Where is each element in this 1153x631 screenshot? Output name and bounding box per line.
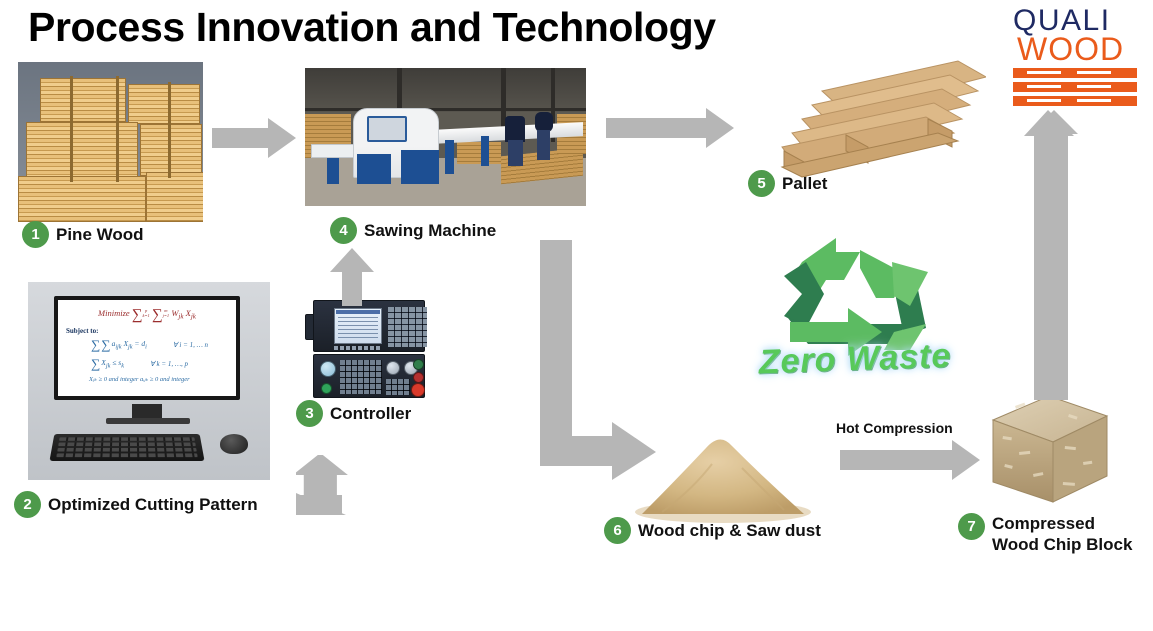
compressed-block-photo	[985, 390, 1111, 508]
sawdust-pile-photo	[632, 428, 814, 524]
slide-canvas: Process Innovation and Technology QUALI …	[0, 0, 1153, 631]
formula-subject-to: Subject to:	[66, 327, 231, 335]
arrow-pinewood-to-saw	[212, 118, 296, 163]
step-6-badge: 6	[604, 517, 631, 544]
step-3: 3 Controller	[296, 400, 411, 427]
optimization-model-screen: Minimize ∑pk=1 ∑mj=1 Wjk Xjk Subject to:…	[54, 296, 240, 400]
step-2-label: Optimized Cutting Pattern	[48, 494, 258, 515]
formula-objective-terms: Wjk Xjk	[171, 308, 196, 318]
arrow-pattern-to-controller	[296, 455, 386, 520]
desktop-computer-photo: Minimize ∑pk=1 ∑mj=1 Wjk Xjk Subject to:…	[28, 282, 270, 480]
step-4: 4 Sawing Machine	[330, 217, 496, 244]
step-2-badge: 2	[14, 491, 41, 518]
step-5-label: Pallet	[782, 173, 827, 194]
step-3-badge: 3	[296, 400, 323, 427]
zero-waste-logo: Zero Waste	[744, 232, 966, 404]
step-5: 5 Pallet	[748, 170, 827, 197]
logo-text-wood: WOOD	[1017, 33, 1146, 65]
formula-constraint-2: ∑ Xjk ≤ sk ∀ k = 1, …, p	[91, 356, 231, 372]
formula-sum-outer-limits: pk=1	[143, 308, 150, 318]
hot-compression-label: Hot Compression	[836, 420, 953, 436]
arrow-controller-to-saw	[330, 248, 374, 311]
wooden-pallet-photo	[762, 55, 986, 179]
sawing-machine-photo	[305, 68, 586, 206]
mouse	[220, 434, 248, 454]
step-4-label: Sawing Machine	[364, 220, 496, 241]
step-1-label: Pine Wood	[56, 224, 144, 245]
step-6-label: Wood chip & Saw dust	[638, 520, 821, 541]
step-6: 6 Wood chip & Saw dust	[604, 517, 821, 544]
step-4-badge: 4	[330, 217, 357, 244]
qualiwood-logo: QUALI WOOD	[1013, 6, 1146, 111]
arrow-saw-to-sawdust	[540, 240, 656, 485]
pine-wood-stack-photo	[18, 62, 203, 222]
arrow-block-to-pallet	[1012, 110, 1102, 405]
arrow-saw-to-pallet	[606, 108, 734, 153]
step-1-badge: 1	[22, 221, 49, 248]
formula-minimize: Minimize	[98, 308, 130, 318]
arrow-sawdust-to-block	[840, 440, 980, 485]
step-3-label: Controller	[330, 403, 411, 424]
logo-pallet-bars	[1013, 68, 1137, 106]
formula-constraint-1: ∑∑ aijk Xjk = di ∀ i = 1, … n	[91, 337, 231, 353]
formula-integrality: Xⱼₖ ≥ 0 and integer aᵢⱼₖ ≥ 0 and integer	[89, 375, 231, 383]
step-5-badge: 5	[748, 170, 775, 197]
cnc-controller-photo	[305, 300, 427, 400]
step-7: 7 Compressed Wood Chip Block	[958, 513, 1132, 555]
keyboard	[49, 434, 204, 461]
optimization-formula: Minimize ∑pk=1 ∑mj=1 Wjk Xjk Subject to:…	[63, 303, 231, 393]
step-7-label: Compressed Wood Chip Block	[992, 513, 1132, 555]
zero-waste-text: Zero Waste	[743, 336, 966, 383]
formula-sum-inner-limits: mj=1	[163, 308, 170, 318]
step-1: 1 Pine Wood	[22, 221, 144, 248]
step-2: 2 Optimized Cutting Pattern	[14, 491, 258, 518]
step-7-badge: 7	[958, 513, 985, 540]
page-title: Process Innovation and Technology	[28, 4, 716, 51]
